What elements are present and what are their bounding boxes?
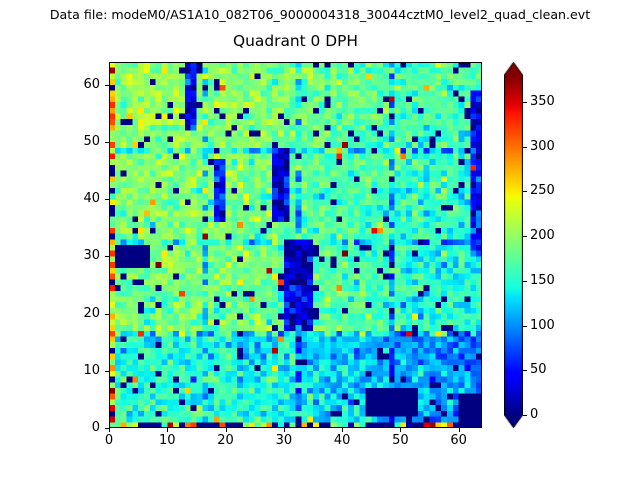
colorbar-tick-mark — [523, 370, 527, 371]
colorbar-tick-mark — [523, 281, 527, 282]
x-tick-label: 40 — [322, 433, 362, 448]
x-tick-mark — [400, 428, 401, 432]
x-tick-mark — [459, 428, 460, 432]
colorbar-tick-label: 200 — [530, 228, 555, 243]
x-tick-label: 20 — [206, 433, 246, 448]
y-tick-label: 10 — [60, 363, 100, 378]
detector-heatmap-image — [109, 62, 482, 428]
data-file-label: Data file: modeM0/AS1A10_082T06_90000043… — [0, 7, 640, 23]
y-tick-label: 40 — [60, 191, 100, 206]
y-tick-mark — [105, 199, 109, 200]
x-tick-label: 10 — [147, 433, 187, 448]
y-tick-mark — [105, 371, 109, 372]
colorbar-tick-label: 150 — [530, 273, 555, 288]
y-tick-label: 0 — [60, 420, 100, 435]
x-tick-label: 0 — [89, 433, 129, 448]
colorbar-tick-mark — [523, 102, 527, 103]
y-tick-label: 60 — [60, 77, 100, 92]
colorbar-tick-label: 250 — [530, 183, 555, 198]
colorbar-tick-mark — [523, 236, 527, 237]
y-tick-label: 30 — [60, 248, 100, 263]
x-tick-mark — [284, 428, 285, 432]
y-tick-mark — [105, 314, 109, 315]
x-tick-mark — [226, 428, 227, 432]
y-tick-mark — [105, 142, 109, 143]
x-tick-mark — [342, 428, 343, 432]
x-tick-mark — [109, 428, 110, 432]
x-tick-label: 60 — [439, 433, 479, 448]
y-tick-label: 20 — [60, 306, 100, 321]
colorbar-gradient — [504, 62, 523, 428]
colorbar-tick-mark — [523, 191, 527, 192]
colorbar[interactable] — [504, 62, 523, 428]
x-tick-label: 50 — [380, 433, 420, 448]
page-title: Quadrant 0 DPH — [109, 31, 482, 51]
colorbar-tick-label: 50 — [530, 362, 547, 377]
colorbar-tick-mark — [523, 326, 527, 327]
colorbar-tick-label: 300 — [530, 139, 555, 154]
x-tick-mark — [167, 428, 168, 432]
colorbar-tick-label: 350 — [530, 94, 555, 109]
y-tick-mark — [105, 256, 109, 257]
matplotlib-figure: Data file: modeM0/AS1A10_082T06_90000043… — [0, 0, 640, 480]
y-tick-mark — [105, 428, 109, 429]
heatmap-axes — [109, 62, 482, 428]
y-tick-label: 50 — [60, 134, 100, 149]
colorbar-tick-label: 0 — [530, 407, 538, 422]
colorbar-tick-label: 100 — [530, 318, 555, 333]
y-tick-mark — [105, 85, 109, 86]
colorbar-tick-mark — [523, 147, 527, 148]
x-tick-label: 30 — [264, 433, 304, 448]
colorbar-tick-mark — [523, 415, 527, 416]
